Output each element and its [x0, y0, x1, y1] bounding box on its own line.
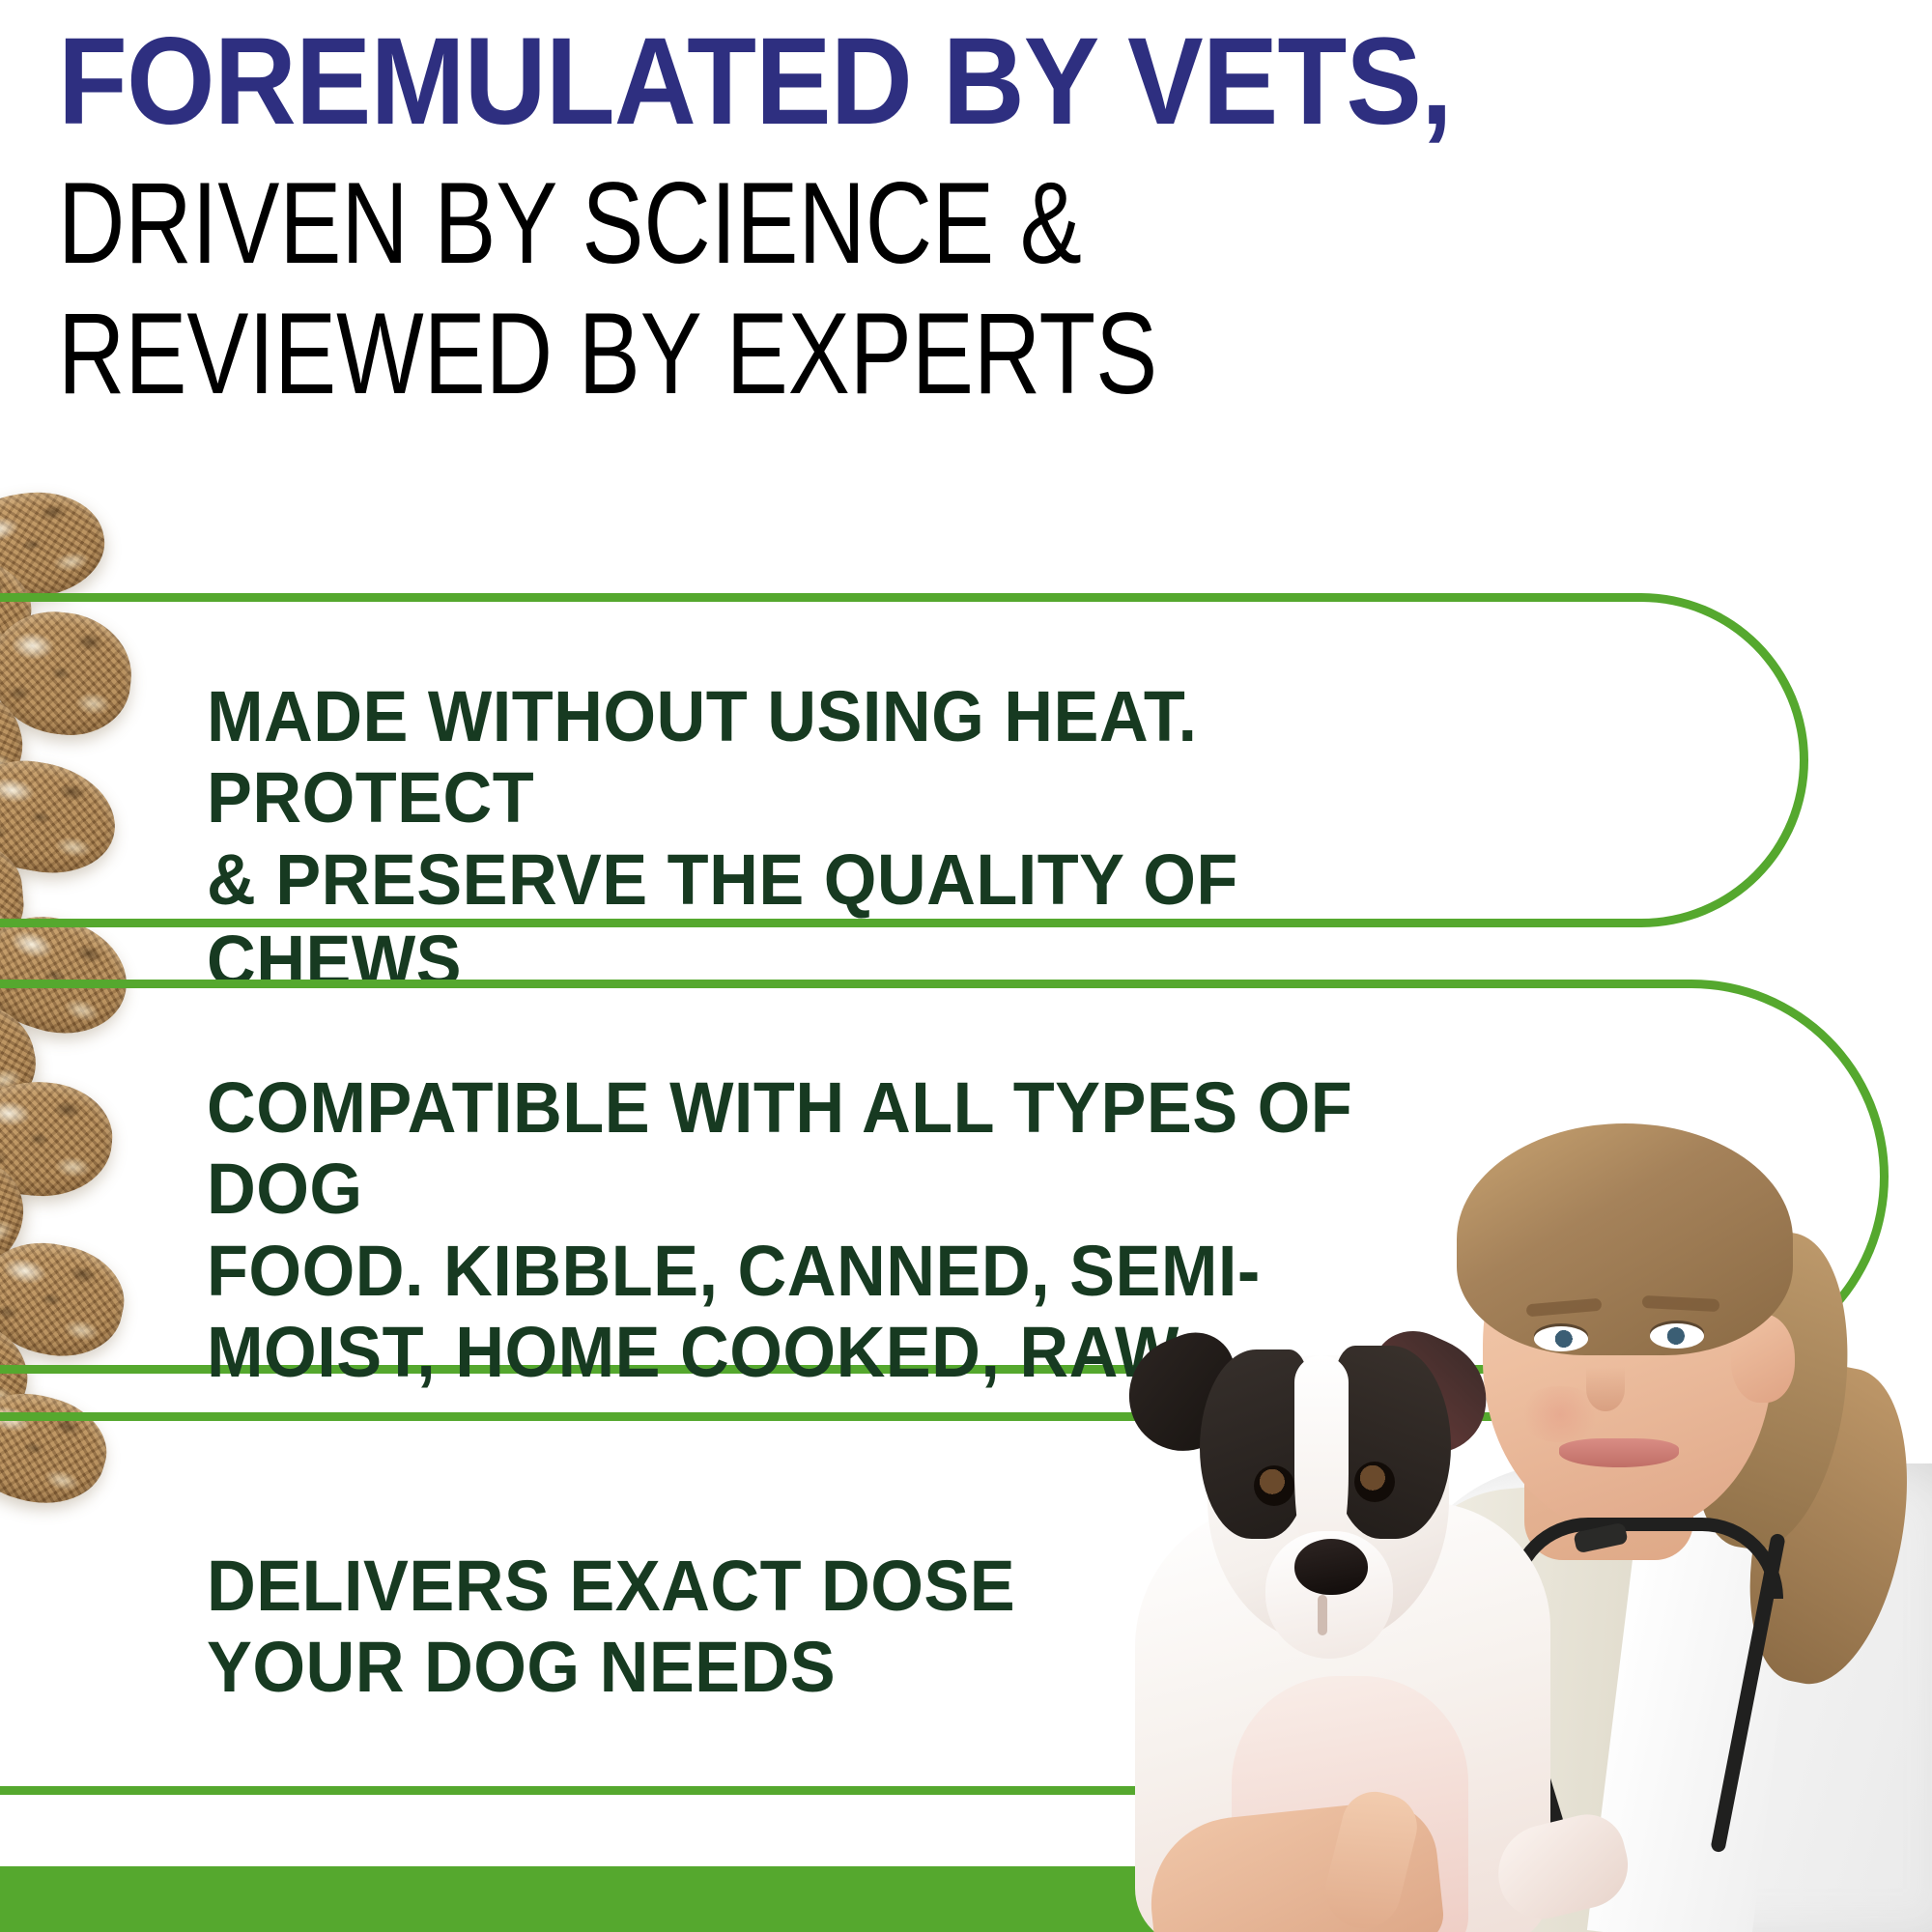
promo-banner: FOREMULATED BY VETS, DRIVEN BY SCIENCE &…: [0, 0, 1932, 1932]
headline-line-1: FOREMULATED BY VETS,: [58, 19, 1800, 146]
headline-line-2: DRIVEN BY SCIENCE &: [58, 161, 1573, 287]
feature-text-exact-dose: DELIVERS EXACT DOSE YOUR DOG NEEDS: [207, 1546, 1124, 1709]
headline-line-3: REVIEWED BY EXPERTS: [58, 292, 1573, 417]
headline-block: FOREMULATED BY VETS, DRIVEN BY SCIENCE &…: [58, 19, 1932, 417]
feature-text-no-heat: MADE WITHOUT USING HEAT. PROTECT & PRESE…: [207, 676, 1455, 1002]
bottom-accent-bar: [0, 1866, 1932, 1932]
feature-text-food-compatible: COMPATIBLE WITH ALL TYPES OF DOG FOOD. K…: [207, 1067, 1455, 1393]
kibble-piece: [0, 482, 112, 608]
